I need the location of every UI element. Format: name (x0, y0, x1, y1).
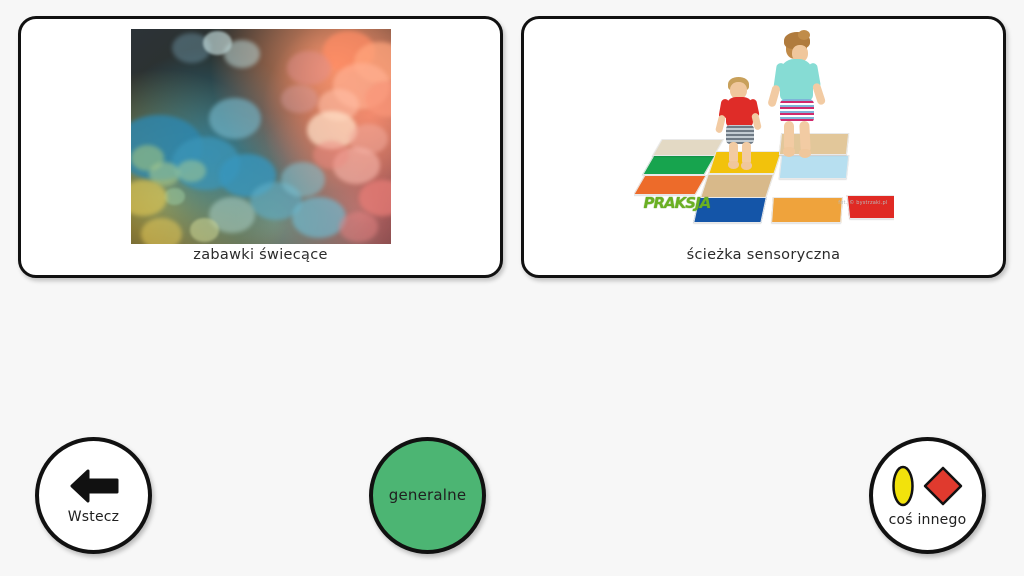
card-image-sensory-path: PRAKSJA fot. © bystrzaki.pl (634, 29, 894, 244)
card-grid: zabawki świecące (18, 16, 1006, 278)
category-generalne-button[interactable]: generalne (369, 437, 486, 554)
praksja-watermark: PRAKSJA (644, 194, 711, 212)
card-zabawki-swiecace[interactable]: zabawki świecące (18, 16, 503, 278)
photo-credit: fot. © bystrzaki.pl (838, 200, 887, 206)
card-label: ścieżka sensoryczna (532, 247, 995, 263)
shapes-row (891, 464, 964, 508)
tile-green (642, 155, 716, 175)
tile-lightblue (778, 155, 849, 179)
card-sciezka-sensoryczna[interactable]: PRAKSJA fot. © bystrzaki.pl ścieżka sens… (521, 16, 1006, 278)
something-else-label: coś innego (889, 513, 967, 527)
tile-orange-front (771, 197, 843, 223)
red-diamond-icon (922, 465, 964, 507)
back-button-label: Wstecz (68, 510, 120, 524)
arrow-left-icon (67, 468, 121, 504)
card-image-bokeh (131, 29, 391, 244)
card-label: zabawki świecące (29, 247, 492, 263)
yellow-ellipse-icon (891, 464, 915, 508)
tile-orange-back (634, 175, 707, 195)
category-generalne-label: generalne (389, 488, 467, 503)
bokeh-lights-photo (131, 29, 391, 244)
tile-beige-back (652, 139, 724, 156)
sensory-path-photo: PRAKSJA fot. © bystrzaki.pl (634, 29, 894, 244)
tile-wood (700, 174, 774, 198)
something-else-button[interactable]: coś innego (869, 437, 986, 554)
back-button[interactable]: Wstecz (35, 437, 152, 554)
tile-red (846, 195, 893, 219)
